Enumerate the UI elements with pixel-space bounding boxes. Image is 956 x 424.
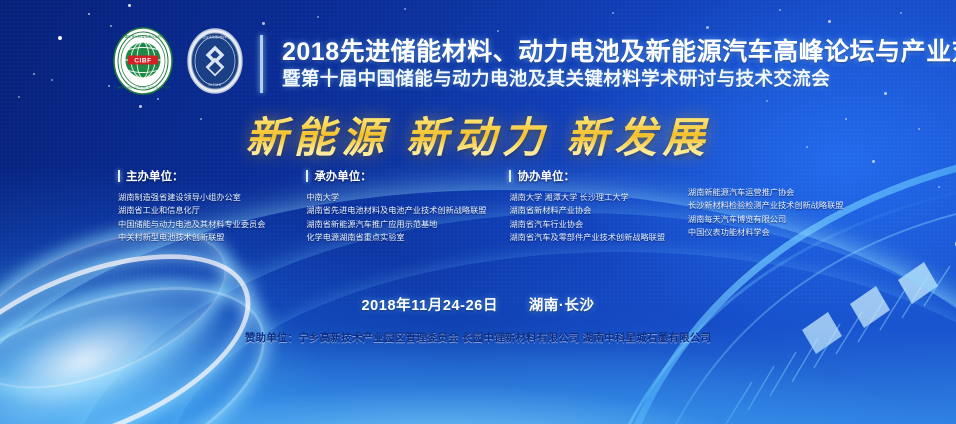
organizer-column-undertaker: 承办单位： 中南大学 湖南省先进电池材料及电池产业技术创新战略联盟 湖南省新能源…	[306, 168, 509, 244]
organizer-item: 湖南新能源汽车运营推广协会	[688, 186, 896, 199]
star-dot	[828, 20, 831, 23]
column-heading: 承办单位：	[306, 168, 509, 184]
svg-text:中国仪表功能材料学会: 中国仪表功能材料学会	[200, 34, 231, 39]
star-dot	[58, 36, 62, 40]
organizer-item: 湖南省工业和信息化厅	[118, 204, 306, 217]
organizer-item: 中国储能与动力电池及其材料专业委员会	[118, 218, 306, 231]
organizer-item: 长沙新材料检验检测产业技术创新战略联盟	[688, 199, 896, 212]
star-dot	[108, 85, 110, 87]
star-dot	[612, 12, 614, 14]
star-dot	[317, 16, 319, 18]
event-date: 2018年11月24-26日	[361, 298, 498, 314]
csu-monogram-seal-logo: 中国仪表功能材料学会 CIFMS	[184, 26, 246, 101]
organizer-item: 湖南省新材料产业协会	[509, 204, 687, 217]
organizer-item: 湖南省汽车行业协会	[509, 218, 687, 231]
orbital-rings-decoration	[0, 232, 310, 424]
svg-text:CHINA INDUSTRIAL ASSOCIATION: CHINA INDUSTRIAL ASSOCIATION	[115, 86, 170, 90]
organizer-item: 湖南制造强省建设领导小组办公室	[118, 191, 306, 204]
organizer-column-cohost-continued: 湖南新能源汽车运营推广协会 长沙新材料检验检测产业技术创新战略联盟 湖南每天汽车…	[688, 168, 896, 239]
page-subtitle: 暨第十届中国储能与动力电池及其关键材料学术研讨与技术交流会	[282, 68, 956, 89]
event-venue: 湖南·长沙	[529, 298, 595, 314]
column-heading: 协办单位：	[509, 168, 687, 184]
star-dot	[779, 9, 781, 11]
star-dot	[938, 186, 940, 188]
svg-text:中国化学与物理电源行业协会: 中国化学与物理电源行业协会	[122, 34, 165, 39]
organizer-item: 中关村新型电池技术创新联盟	[118, 231, 306, 244]
cibf-globe-seal-logo: CIBF 中国化学与物理电源行业协会 CHINA INDUSTRIAL ASSO…	[112, 26, 174, 101]
organizer-item: 湖南省先进电池材料及电池产业技术创新战略联盟	[306, 204, 509, 217]
slogan-text: 新能源 新动力 新发展	[0, 104, 956, 165]
light-sweep-arc	[60, 213, 956, 424]
organizer-item: 中国仪表功能材料学会	[688, 226, 896, 239]
star-dot	[51, 79, 53, 81]
star-dot	[33, 73, 35, 75]
star-dot	[404, 8, 406, 10]
column-heading: 主办单位：	[118, 168, 306, 184]
organizer-item: 湖南省汽车及零部件产业技术创新战略联盟	[509, 231, 687, 244]
star-dot	[900, 12, 902, 14]
star-dot	[18, 96, 20, 98]
organizers-section: 主办单位： 湖南制造强省建设领导小组办公室 湖南省工业和信息化厅 中国储能与动力…	[118, 168, 896, 244]
star-dot	[88, 13, 90, 15]
banner-header: CIBF 中国化学与物理电源行业协会 CHINA INDUSTRIAL ASSO…	[112, 26, 956, 101]
page-title: 2018先进储能材料、动力电池及新能源汽车高峰论坛与产业对接会	[282, 38, 956, 66]
organizer-item: 湖南每天汽车博览有限公司	[688, 213, 896, 226]
star-dot	[262, 22, 265, 25]
sponsor-line: 赞助单位：宁乡高新技术产业园区管理委员会 长园中锂新材料有限公司 湖南中科星城石…	[0, 330, 956, 345]
event-dateline: 2018年11月24-26日 湖南·长沙	[0, 294, 956, 315]
organizer-column-host: 主办单位： 湖南制造强省建设领导小组办公室 湖南省工业和信息化厅 中国储能与动力…	[118, 168, 306, 244]
title-divider-bar	[260, 35, 263, 93]
organizer-item: 湖南大学 湘潭大学 长沙理工大学	[509, 191, 687, 204]
svg-text:CIBF: CIBF	[134, 58, 151, 65]
organizer-item: 湖南省新能源汽车推广应用示范基地	[306, 218, 509, 231]
conference-banner: CIBF 中国化学与物理电源行业协会 CHINA INDUSTRIAL ASSO…	[0, 0, 956, 424]
organizer-item: 化学电源湖南省重点实验室	[306, 231, 509, 244]
star-dot	[128, 4, 131, 7]
organizer-column-cohost: 协办单位： 湖南大学 湘潭大学 长沙理工大学 湖南省新材料产业协会 湖南省汽车行…	[509, 168, 687, 244]
svg-text:CIFMS: CIFMS	[209, 83, 222, 87]
organizer-item: 中南大学	[306, 191, 509, 204]
